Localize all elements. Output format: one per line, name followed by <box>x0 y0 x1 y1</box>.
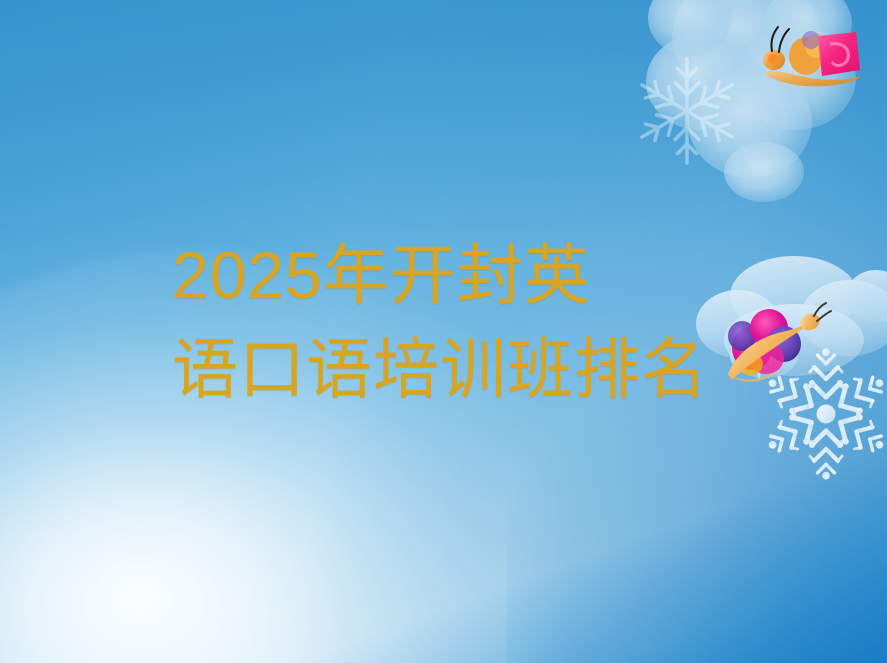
title-line-2: 语口语培训班排名 <box>172 322 772 416</box>
title-line-1: 2025年开封英 <box>172 228 772 322</box>
promo-banner: 2025年开封英 语口语培训班排名 <box>0 0 887 663</box>
banner-title: 2025年开封英 语口语培训班排名 <box>172 228 772 416</box>
